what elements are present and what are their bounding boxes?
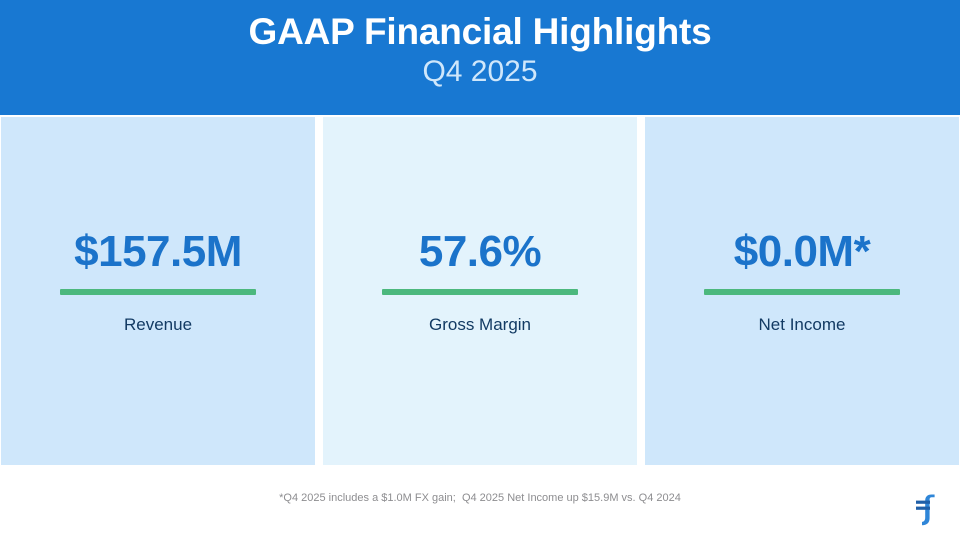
metric-divider-rule [704,289,900,295]
metric-card-net-income: $0.0M* Net Income [645,117,959,465]
slide-canvas: GAAP Financial Highlights Q4 2025 $157.5… [0,0,960,540]
metric-label: Net Income [759,316,846,333]
metric-label: Revenue [124,316,192,333]
metric-card-gross-margin: 57.6% Gross Margin [323,117,637,465]
metric-divider-rule [60,289,256,295]
metric-value: $157.5M [74,230,242,274]
metric-cards-row: $157.5M Revenue 57.6% Gross Margin $0.0M… [0,117,960,465]
company-f-logo [907,487,943,527]
page-subtitle: Q4 2025 [422,54,537,89]
metric-card-revenue: $157.5M Revenue [1,117,315,465]
slide-header: GAAP Financial Highlights Q4 2025 [0,0,960,115]
metric-label: Gross Margin [429,316,531,333]
page-title: GAAP Financial Highlights [248,12,711,52]
metric-divider-rule [382,289,578,295]
metric-value: 57.6% [419,230,541,274]
metric-value: $0.0M* [734,230,870,274]
company-f-logo-icon [907,487,943,527]
footnote-text: *Q4 2025 includes a $1.0M FX gain; Q4 20… [0,492,960,505]
